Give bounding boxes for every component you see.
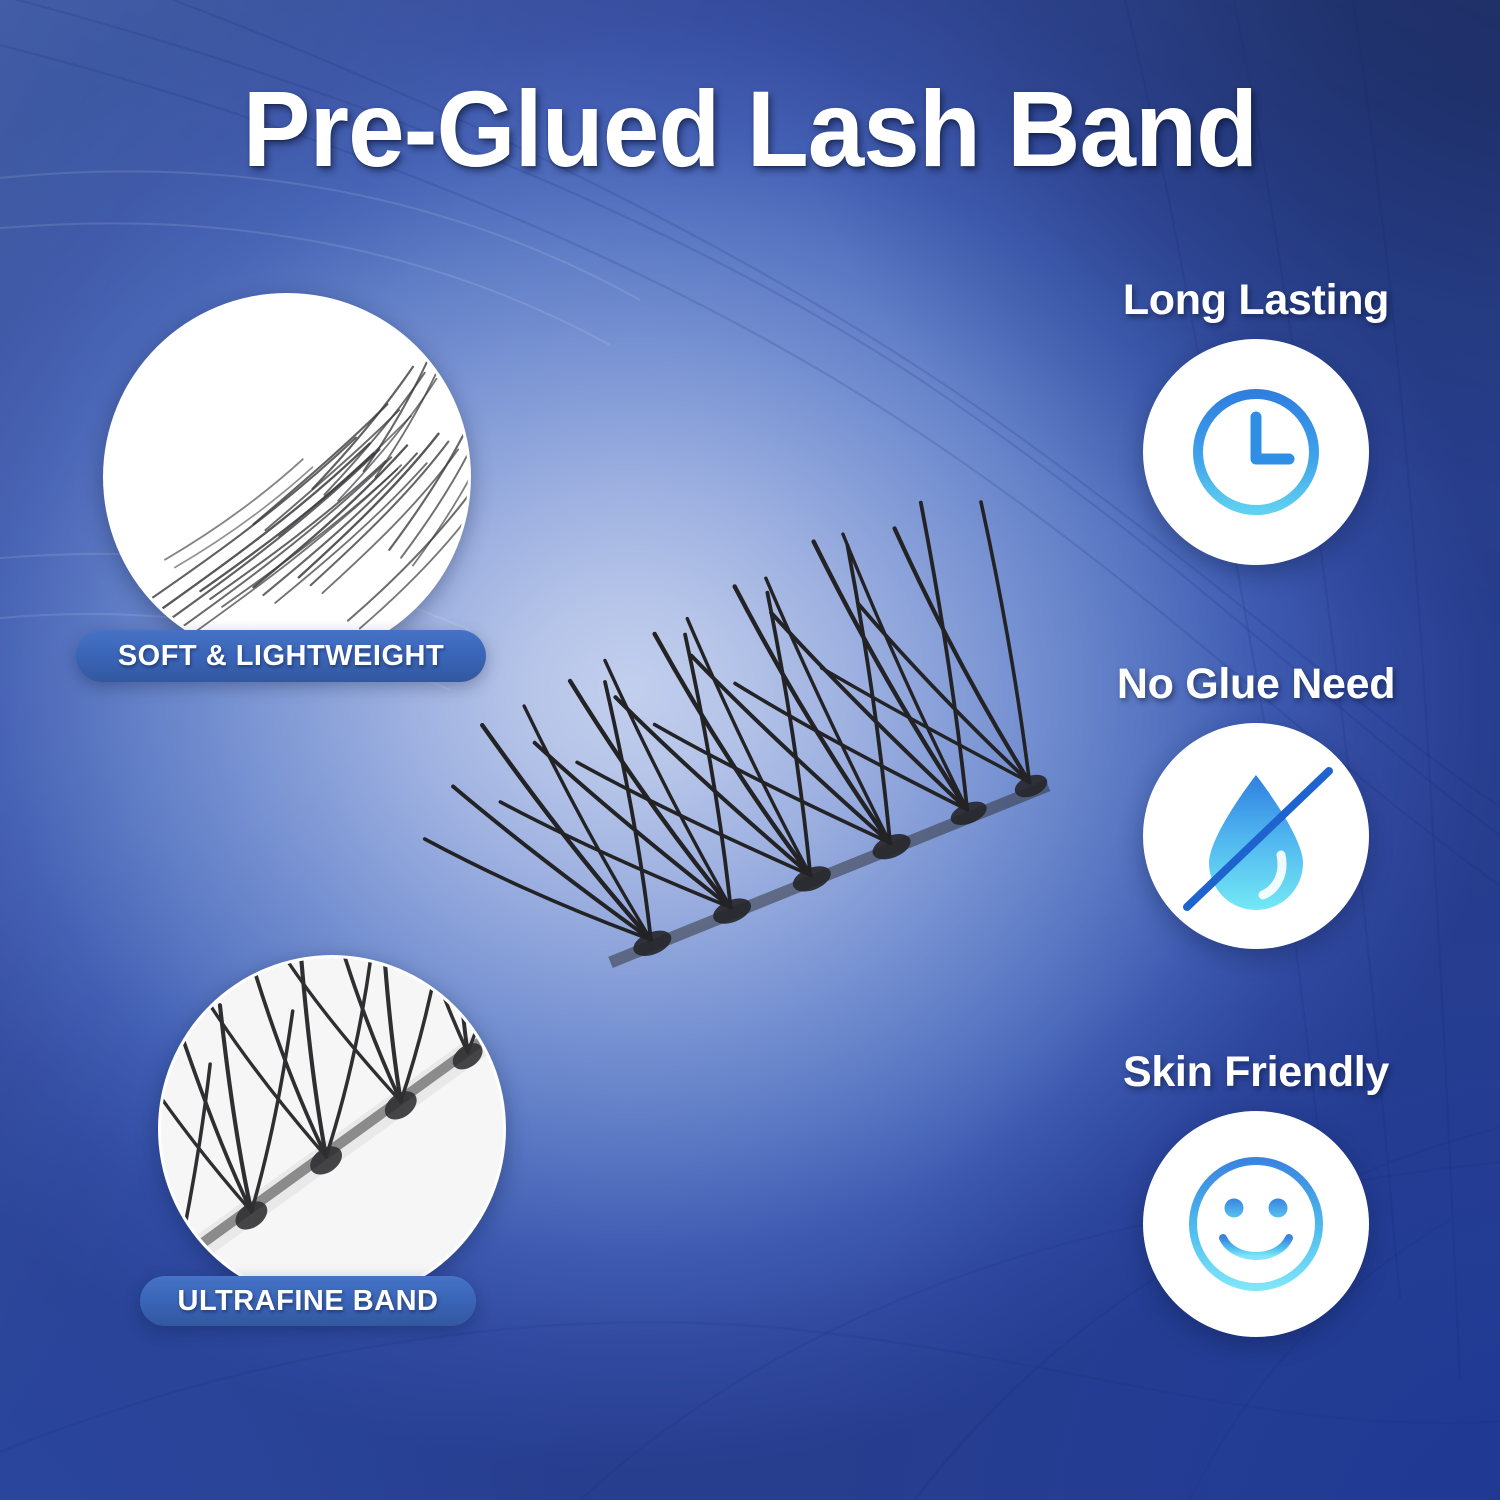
- clock-icon: [1181, 377, 1331, 527]
- product-infographic: Pre-Glued Lash Band: [0, 0, 1500, 1500]
- feature-icon-circle: [1143, 339, 1369, 565]
- page-title: Pre-Glued Lash Band: [45, 72, 1455, 186]
- feature-no-glue-need: No Glue Need: [1076, 660, 1436, 949]
- callout-badge-label: ULTRAFINE BAND: [178, 1285, 439, 1318]
- callout-image-soft-lightweight: [103, 293, 471, 661]
- callout-badge-label: SOFT & LIGHTWEIGHT: [118, 640, 444, 673]
- callout-image-ultrafine-band: [158, 955, 506, 1303]
- feature-icon-circle: [1143, 723, 1369, 949]
- smiley-face-icon: [1176, 1144, 1336, 1304]
- feature-label: Long Lasting: [1123, 276, 1389, 325]
- feature-label: Skin Friendly: [1123, 1048, 1389, 1097]
- feature-long-lasting: Long Lasting: [1076, 276, 1436, 565]
- feature-icon-circle: [1143, 1111, 1369, 1337]
- feature-skin-friendly: Skin Friendly: [1076, 1048, 1436, 1337]
- no-water-droplet-icon: [1171, 751, 1341, 921]
- callout-badge-ultrafine-band: ULTRAFINE BAND: [140, 1276, 476, 1326]
- callout-badge-soft-lightweight: SOFT & LIGHTWEIGHT: [76, 630, 486, 682]
- feature-label: No Glue Need: [1117, 660, 1395, 709]
